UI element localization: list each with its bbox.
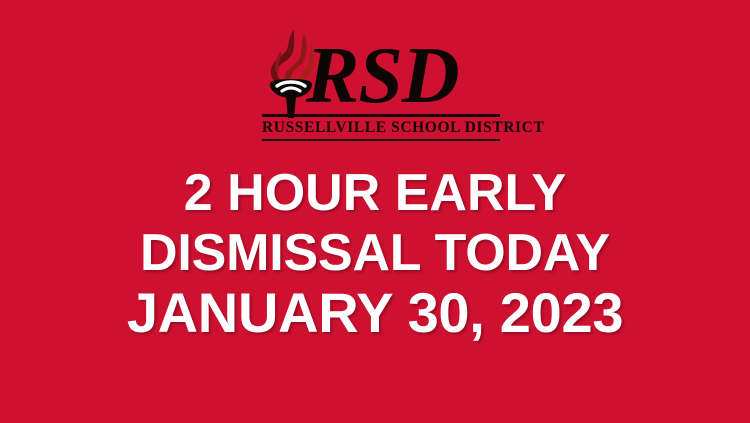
svg-text:RSD: RSD [306,36,459,120]
headline-line-2: DISMISSAL TODAY [0,223,750,283]
rsd-logo: RSD RUSSELLVILLE SCHOOL DISTRICT [250,28,500,143]
announcement-graphic: RSD RUSSELLVILLE SCHOOL DISTRICT 2 HOUR … [0,0,750,423]
tagline-rule-bottom [262,139,500,142]
logo-tagline-block: RUSSELLVILLE SCHOOL DISTRICT [262,114,500,141]
tagline-rule-top [262,114,500,117]
headline-line-1: 2 HOUR EARLY [0,163,750,223]
logo-tagline: RUSSELLVILLE SCHOOL DISTRICT [262,118,500,137]
rsd-wordmark: RSD [306,36,502,120]
logo-mark-row: RSD [250,28,500,120]
announcement-headline: 2 HOUR EARLY DISMISSAL TODAY JANUARY 30,… [0,163,750,343]
headline-line-3: JANUARY 30, 2023 [0,283,750,343]
